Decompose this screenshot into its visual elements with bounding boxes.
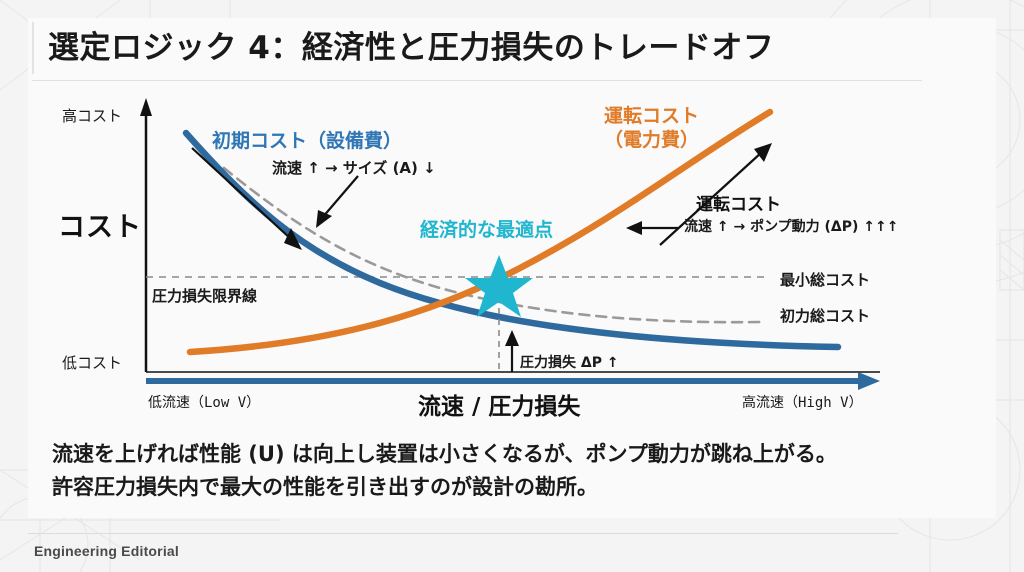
caption-line-1: 流速を上げれば性能 (U) は向上し装置は小さくなるが、ポンプ動力が跳ね上がる。 [52, 438, 952, 471]
initial-cost-note: 流速 ↑ → サイズ (A) ↓ [272, 157, 436, 178]
footer-divider [28, 533, 898, 534]
pressure-drop-label: 圧力損失 ΔP ↑ [520, 352, 619, 372]
operating-cost-note-arrowhead [626, 221, 642, 235]
x-axis-low-tick: 低流速（Low V） [148, 392, 260, 412]
pressure-drop-arrowhead [505, 330, 519, 346]
operating-cost-label-line1: 運転コスト [604, 105, 699, 127]
x-axis-high-tick: 高流速（High V） [742, 392, 863, 412]
original-total-cost-label: 初力総コスト [780, 305, 870, 326]
y-axis-title: コスト [58, 205, 142, 244]
caption-line-2: 許容圧力損失内で最大の性能を引き出すのが設計の勘所。 [52, 471, 952, 504]
operating-cost-label: 運転コスト （電力費） [604, 105, 699, 153]
operating-cost-trend-arrowhead [754, 143, 772, 162]
min-total-cost-label: 最小総コスト [780, 269, 870, 290]
x-axis-title: 流速 / 圧力損失 [418, 387, 580, 421]
y-axis-low-tick: 低コスト [62, 352, 122, 373]
slide-root: 選定ロジック 4：経済性と圧力損失のトレードオフ [0, 0, 1024, 572]
footer-brand: Engineering Editorial [34, 543, 179, 559]
pressure-limit-label: 圧力損失限界線 [152, 285, 257, 306]
optimum-point-label: 経済的な最適点 [420, 215, 553, 242]
y-axis-high-tick: 高コスト [62, 105, 122, 126]
initial-cost-note-arrowhead [316, 210, 332, 228]
caption-block: 流速を上げれば性能 (U) は向上し装置は小さくなるが、ポンプ動力が跳ね上がる。… [52, 438, 952, 503]
initial-cost-label: 初期コスト（設備費） [212, 126, 402, 153]
operating-cost-heading: 運転コスト [696, 190, 781, 215]
operating-cost-note: 流速 ↑ → ポンプ動力 (ΔP) ↑↑↑ [684, 216, 899, 236]
y-axis-arrowhead [140, 98, 152, 116]
initial-cost-note-arrow [322, 176, 358, 218]
operating-cost-label-line2: （電力費） [604, 129, 699, 151]
